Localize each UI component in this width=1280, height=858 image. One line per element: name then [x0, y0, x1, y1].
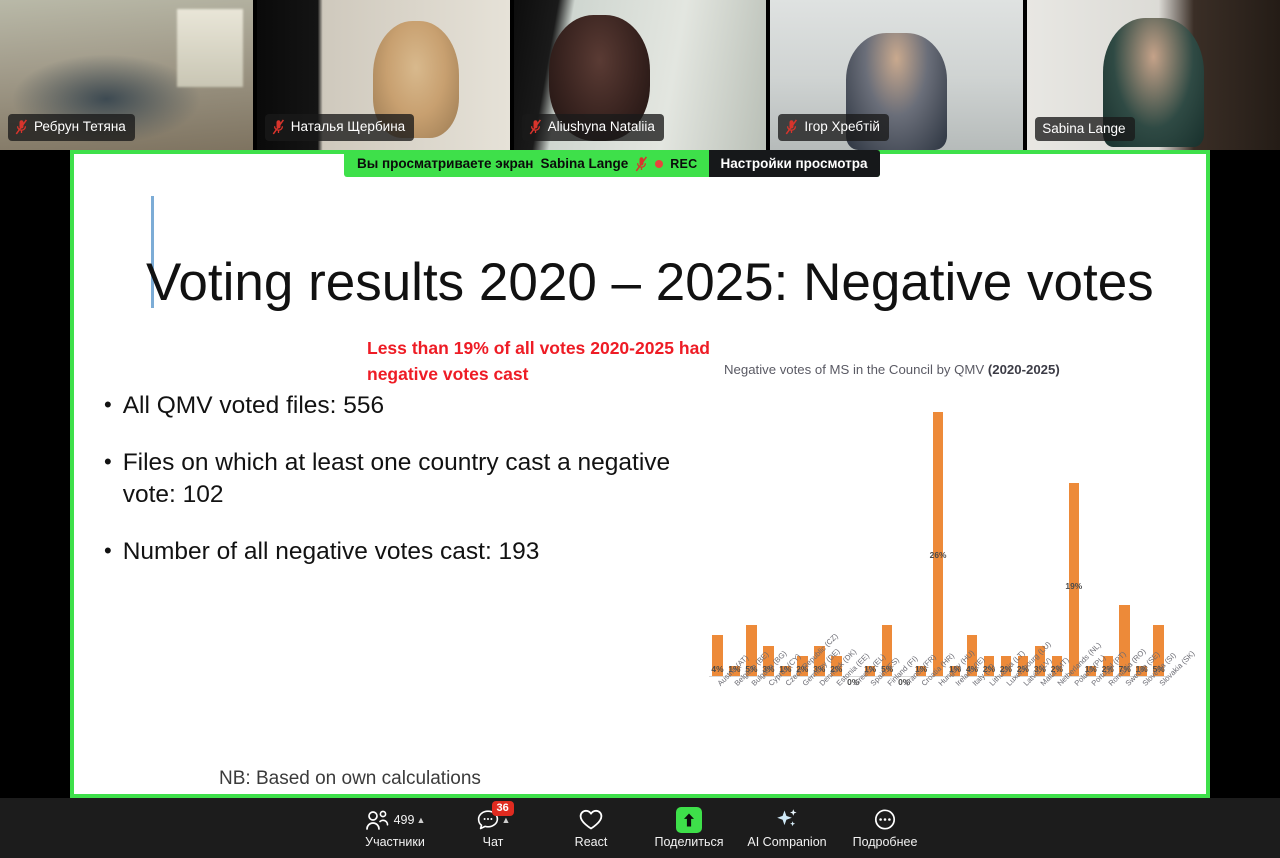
toolbar-label: Участники: [365, 835, 425, 849]
chart-tick: Romania (RO): [1099, 678, 1116, 768]
recording-label: REC: [670, 157, 697, 171]
chat-icon: ▲36: [476, 808, 511, 832]
chart-tick: Portugal (PT): [1082, 678, 1099, 768]
chart-bar-value-label: 4%: [711, 664, 723, 674]
toolbar-button-sparkle[interactable]: AI Companion: [738, 798, 836, 858]
heart-icon: [578, 808, 604, 832]
chart-bar-slot: 4%: [709, 392, 726, 676]
chart-bar-slot: 1%: [1082, 392, 1099, 676]
participant-name: Aliushyna Nataliia: [548, 120, 655, 134]
chart-title-plain: Negative votes of MS in the Council by Q…: [724, 362, 988, 377]
chart-title-period: (2020-2025): [988, 362, 1060, 377]
chart-bar-slot: 2%: [1048, 392, 1065, 676]
chart-tick: Croatia (HR): [913, 678, 930, 768]
chart-bar-slot: 0%: [896, 392, 913, 676]
chart-tick: Lithuania (LT): [981, 678, 998, 768]
chart-tick: Denmark (DK): [811, 678, 828, 768]
chart-tick: Netherlands (NL): [1048, 678, 1065, 768]
chart-bar-value-label: 19%: [1065, 581, 1082, 591]
chart-bar-slot: 5%: [743, 392, 760, 676]
toolbar-label: AI Companion: [747, 835, 826, 849]
presentation-slide: Voting results 2020 – 2025: Negative vot…: [74, 154, 1206, 794]
toolbar-label: React: [575, 835, 608, 849]
chart-bar-slot: 3%: [1031, 392, 1048, 676]
chart-bar-slot: 2%: [997, 392, 1014, 676]
chart-bar-value-label: 26%: [930, 550, 947, 560]
share-presenter-name: Sabina Lange: [540, 156, 628, 171]
chart-tick: Spain (ES): [862, 678, 879, 768]
chart-tick: Luxembourg (LU): [997, 678, 1014, 768]
participant-filmstrip: Ребрун ТетянаНаталья ЩербинаAliushyna Na…: [0, 0, 1280, 150]
chart-bar-slot: 1%: [862, 392, 879, 676]
more-ellipsis-icon: [872, 808, 898, 832]
chart-bar-slot: 26%: [930, 392, 947, 676]
chart-tick: Greece (EL): [845, 678, 862, 768]
chart-bar-slot: 3%: [760, 392, 777, 676]
share-viewing-label: Вы просматриваете экран: [357, 156, 533, 171]
mic-muted-icon: [272, 119, 285, 135]
chart-bar-slot: 0%: [845, 392, 862, 676]
participants-icon: 499▲: [365, 808, 426, 832]
chart-bar-slot: 1%: [1133, 392, 1150, 676]
share-screen-square: [676, 807, 702, 833]
chart-bar: 19%: [1069, 483, 1080, 676]
participant-name: Ребрун Тетяна: [34, 120, 126, 134]
participant-tile[interactable]: Ігор Хребтій: [770, 0, 1023, 150]
toolbar-button-chat[interactable]: ▲36Чат: [444, 798, 542, 858]
mic-muted-icon: [15, 119, 28, 135]
chart-tick: Austria (AT): [709, 678, 726, 768]
chart-bar-slot: 5%: [879, 392, 896, 676]
toolbar-label: Чат: [483, 835, 504, 849]
participant-name-badge: Наталья Щербина: [265, 114, 414, 141]
chart-tick: Estonia (EE): [828, 678, 845, 768]
recording-dot-icon: [655, 160, 663, 168]
chart-tick: Slovakia (SK): [1150, 678, 1167, 768]
participant-name-badge: Ребрун Тетяна: [8, 114, 135, 141]
bullet-dot-icon: •: [104, 447, 112, 510]
chart-bar-slot: 4%: [964, 392, 981, 676]
mic-muted-icon: [635, 156, 648, 172]
participant-name: Ігор Хребтій: [804, 120, 879, 134]
slide-title: Voting results 2020 – 2025: Negative vot…: [146, 254, 1156, 312]
chart-tick: Ireland (IE): [947, 678, 964, 768]
shared-screen-frame: Voting results 2020 – 2025: Negative vot…: [70, 150, 1210, 798]
slide-footnote: NB: Based on own calculations: [219, 768, 481, 790]
sparkle-icon: [774, 808, 800, 832]
chart-bar-slot: 2%: [1014, 392, 1031, 676]
chart-title: Negative votes of MS in the Council by Q…: [724, 362, 1060, 377]
screen-share-banner: Вы просматриваете экран Sabina Lange REC…: [344, 150, 880, 177]
participant-name-badge: Aliushyna Nataliia: [522, 114, 664, 141]
chart-bar-slot: 5%: [1150, 392, 1167, 676]
slide-bullet-list: •All QMV voted files: 556•Files on which…: [104, 390, 684, 593]
chart-tick: Finland (FI): [879, 678, 896, 768]
participant-tile[interactable]: Aliushyna Nataliia: [514, 0, 767, 150]
slide-bullet: •Number of all negative votes cast: 193: [104, 536, 684, 567]
bullet-text: Number of all negative votes cast: 193: [123, 536, 540, 567]
chart-bar: 26%: [933, 412, 944, 676]
chart-tick: Hungary (HU): [930, 678, 947, 768]
bullet-dot-icon: •: [104, 536, 112, 567]
chart-plot-area: 4%1%5%3%1%2%3%2%0%1%5%0%1%26%1%4%2%2%2%3…: [709, 392, 1167, 676]
chart-x-tick-labels: Austria (AT)Belgium (BE)Bulgaria (BG)Cyp…: [709, 678, 1167, 768]
unread-badge: 36: [492, 801, 514, 817]
chart-tick: Poland (PL): [1065, 678, 1082, 768]
share-banner-text: Вы просматриваете экран Sabina Lange REC: [344, 150, 709, 177]
toolbar-button-participants[interactable]: 499▲Участники: [346, 798, 444, 858]
participant-name: Наталья Щербина: [291, 120, 405, 134]
chart-tick: Sweden (SE): [1116, 678, 1133, 768]
toolbar-button-more-ellipsis[interactable]: Подробнее: [836, 798, 934, 858]
chart-bar-slot: 1%: [726, 392, 743, 676]
chart-bar: 4%: [712, 635, 723, 676]
chart-bar-slot: 1%: [947, 392, 964, 676]
chart-bar-slot: 2%: [981, 392, 998, 676]
chevron-up-icon[interactable]: ▲: [416, 815, 425, 825]
negative-votes-bar-chart: Negative votes of MS in the Council by Q…: [649, 354, 1189, 774]
bullet-text: Files on which at least one country cast…: [123, 447, 684, 510]
chart-tick: Belgium (BE): [726, 678, 743, 768]
chart-tick: Bulgaria (BG): [743, 678, 760, 768]
participant-name-badge: Sabina Lange: [1035, 117, 1134, 142]
mic-muted-icon: [785, 119, 798, 135]
chart-tick: Malta (MT): [1031, 678, 1048, 768]
chart-bar-slot: 19%: [1065, 392, 1082, 676]
chart-bar-slot: 7%: [1116, 392, 1133, 676]
participant-count: 499: [394, 813, 415, 827]
toolbar-button-share-screen[interactable]: Поделиться: [640, 798, 738, 858]
chart-bar-slot: 1%: [777, 392, 794, 676]
chart-bar-slot: 1%: [913, 392, 930, 676]
toolbar-label: Подробнее: [853, 835, 918, 849]
view-options-button[interactable]: Настройки просмотра: [709, 150, 880, 177]
mic-muted-icon: [529, 119, 542, 135]
chart-bar-slot: 2%: [794, 392, 811, 676]
participant-tile[interactable]: Наталья Щербина: [257, 0, 510, 150]
chart-bar-slot: 3%: [811, 392, 828, 676]
participant-tile[interactable]: Sabina Lange: [1027, 0, 1280, 150]
zoom-meeting-window: Ребрун ТетянаНаталья ЩербинаAliushyna Na…: [0, 0, 1280, 858]
slide-bullet: •All QMV voted files: 556: [104, 390, 684, 421]
bullet-text: All QMV voted files: 556: [123, 390, 384, 421]
chart-tick: Slovenia (SI): [1133, 678, 1150, 768]
slide-bullet: •Files on which at least one country cas…: [104, 447, 684, 510]
participant-tile[interactable]: Ребрун Тетяна: [0, 0, 253, 150]
chart-tick: Germany (DE): [794, 678, 811, 768]
chart-tick: France (FR): [896, 678, 913, 768]
chart-tick: Latvia (LV): [1014, 678, 1031, 768]
toolbar-label: Поделиться: [654, 835, 723, 849]
share-screen-icon: [676, 808, 702, 832]
toolbar-button-heart[interactable]: React: [542, 798, 640, 858]
meeting-toolbar: 499▲Участники▲36ЧатReactПоделитьсяAI Com…: [0, 798, 1280, 858]
chart-tick: Czech Republic (CZ): [777, 678, 794, 768]
chart-bar-slot: 2%: [1099, 392, 1116, 676]
bullet-dot-icon: •: [104, 390, 112, 421]
chart-tick: Italy (IT): [964, 678, 981, 768]
participant-name-badge: Ігор Хребтій: [778, 114, 888, 141]
participant-name: Sabina Lange: [1042, 122, 1125, 136]
chart-tick: Cyprus (CY): [760, 678, 777, 768]
